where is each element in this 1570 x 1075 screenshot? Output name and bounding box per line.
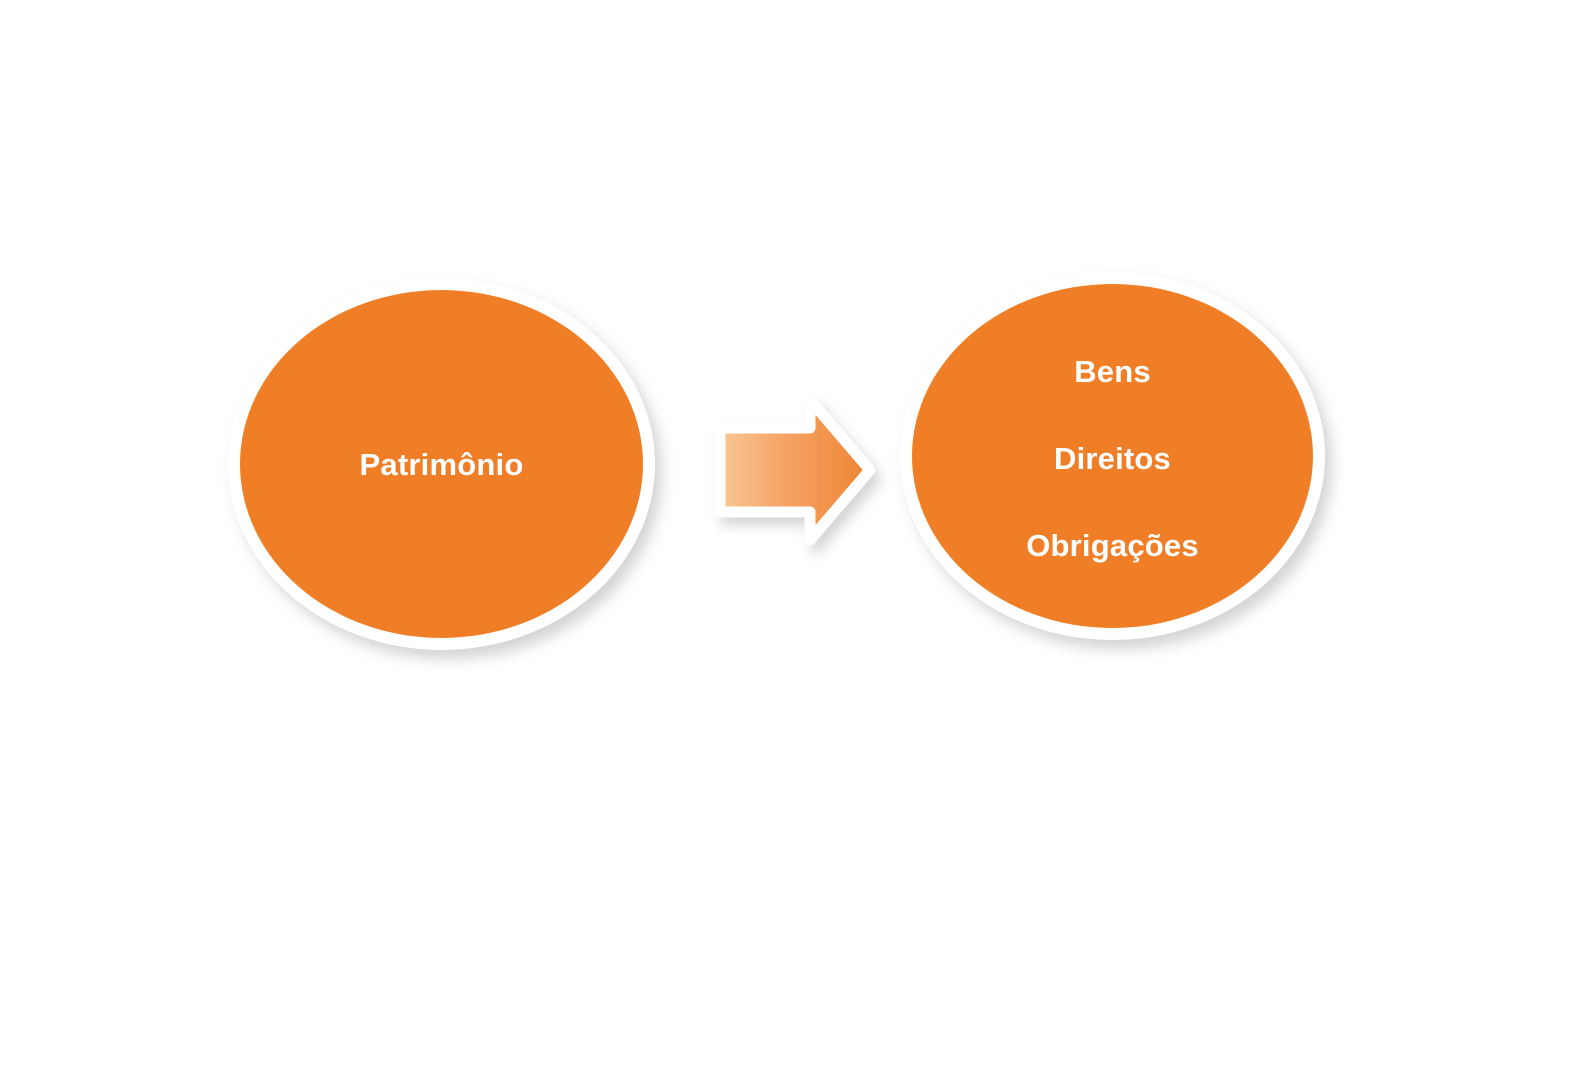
node-componentes-item-bens: Bens — [1074, 356, 1151, 387]
node-patrimonio[interactable]: Patrimônio — [228, 278, 655, 650]
diagram-canvas: Patrimônio Bens Direitos — [0, 0, 1570, 1075]
arrow-right-icon — [714, 394, 876, 546]
node-patrimonio-fill: Patrimônio — [240, 290, 643, 638]
node-componentes-item-direitos: Direitos — [1054, 443, 1171, 474]
arrow-right-shape — [714, 394, 876, 546]
arrow-path — [720, 400, 870, 540]
node-patrimonio-label: Patrimônio — [360, 449, 524, 480]
node-componentes[interactable]: Bens Direitos Obrigações — [900, 272, 1325, 640]
node-componentes-item-obrigacoes: Obrigações — [1026, 530, 1199, 561]
node-componentes-fill: Bens Direitos Obrigações — [912, 284, 1313, 628]
node-componentes-list: Bens Direitos Obrigações — [1026, 356, 1199, 561]
